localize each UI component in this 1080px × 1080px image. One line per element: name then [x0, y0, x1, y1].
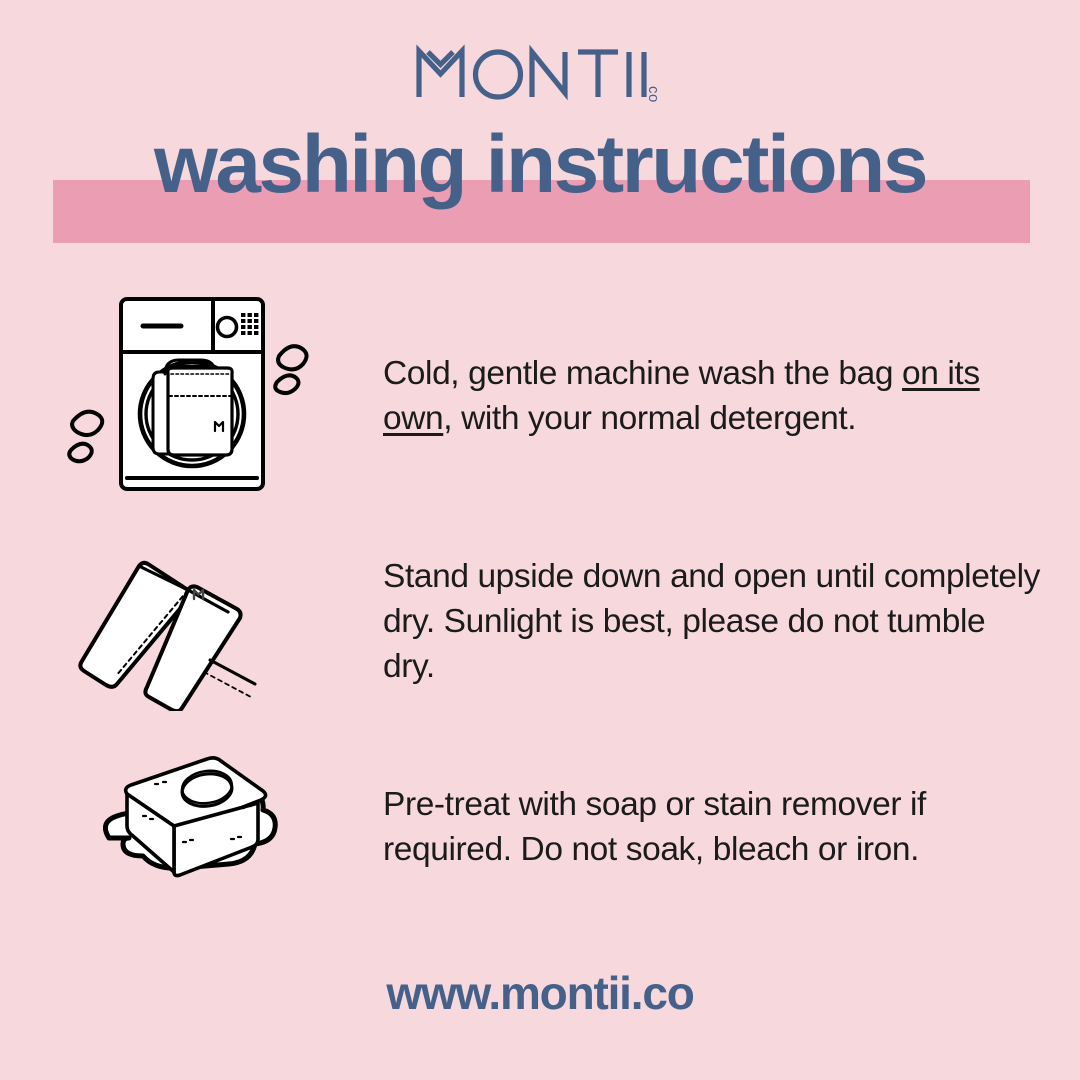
upside-down-bag-drying-icon	[55, 531, 339, 711]
instruction-text-cell: Stand upside down and open until complet…	[383, 554, 1080, 689]
washing-instructions-poster: co washing instructions	[0, 0, 1080, 1080]
logo-co-suffix: co	[645, 86, 662, 102]
instruction-text-before: Cold, gentle machine wash the bag	[383, 355, 902, 392]
list-item: Stand upside down and open until complet…	[0, 510, 1080, 732]
instruction-icon-cell	[0, 531, 383, 711]
brand-logo: co	[0, 36, 1080, 106]
instruction-icon-cell	[0, 290, 383, 502]
instructions-list: Cold, gentle machine wash the bag on its…	[0, 282, 1080, 922]
instruction-text-cell: Pre-treat with soap or stain remover if …	[383, 782, 1080, 872]
montii-logo-svg: co	[415, 40, 665, 102]
list-item: Cold, gentle machine wash the bag on its…	[0, 282, 1080, 510]
instruction-text-after: , with your normal detergent.	[443, 400, 856, 437]
website-url[interactable]: www.montii.co	[0, 966, 1080, 1020]
washing-machine-icon	[55, 290, 339, 502]
instruction-text: Stand upside down and open until complet…	[383, 554, 1044, 689]
instruction-text: Pre-treat with soap or stain remover if …	[383, 782, 1044, 872]
instruction-text: Cold, gentle machine wash the bag on its…	[383, 351, 1044, 441]
list-item: Pre-treat with soap or stain remover if …	[0, 732, 1080, 922]
soap-bar-icon	[55, 742, 339, 912]
instruction-icon-cell	[0, 742, 383, 912]
page-title: washing instructions	[0, 124, 1080, 206]
instruction-text-cell: Cold, gentle machine wash the bag on its…	[383, 351, 1080, 441]
